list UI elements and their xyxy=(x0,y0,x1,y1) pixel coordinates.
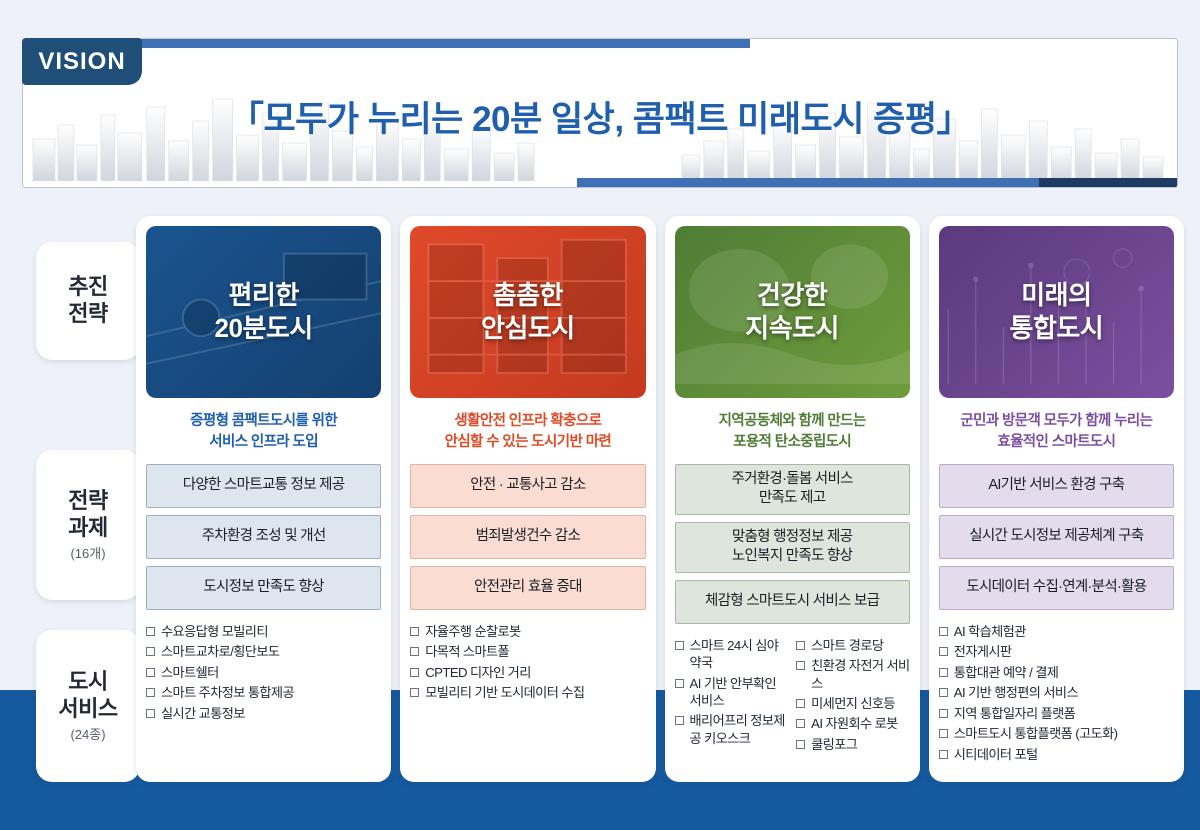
banner-bottom-accent-bar-dark xyxy=(1039,178,1177,187)
task-item[interactable]: 체감형 스마트도시 서비스 보급 xyxy=(675,580,910,624)
task-list: 다양한 스마트교통 정보 제공주차환경 조성 및 개선도시정보 만족도 향상 xyxy=(146,464,381,610)
card-subtitle: 생활안전 인프라 확충으로안심할 수 있는 도시기반 마련 xyxy=(412,411,643,453)
task-item-label: 체감형 스마트도시 서비스 보급 xyxy=(705,592,879,611)
task-item[interactable]: 안전관리 효율 증대 xyxy=(410,566,645,610)
checkbox-icon xyxy=(796,661,805,670)
task-item-label: 도시정보 만족도 향상 xyxy=(203,578,323,597)
card-hero: 미래의통합도시 xyxy=(939,226,1174,398)
strategy-card[interactable]: 편리한20분도시증평형 콤팩트도시를 위한서비스 인프라 도입다양한 스마트교통… xyxy=(136,216,391,782)
service-item-label: 전자게시판 xyxy=(954,643,1012,660)
card-hero: 촘촘한안심도시 xyxy=(410,226,645,398)
task-item-label: 주차환경 조성 및 개선 xyxy=(202,527,326,546)
card-hero-title: 편리한20분도시 xyxy=(215,279,313,346)
task-item[interactable]: 주거환경·돌봄 서비스만족도 제고 xyxy=(675,464,910,515)
checkbox-icon xyxy=(146,709,155,718)
rail-label-tasks: 전략과제(16개) xyxy=(36,450,140,600)
service-item-label: AI 자원회수 로봇 xyxy=(811,715,898,732)
service-list: 스마트 24시 심야약국AI 기반 안부확인 서비스배리어프리 정보제공 키오스… xyxy=(675,637,910,754)
card-hero-title: 건강한지속도시 xyxy=(745,279,839,346)
service-item[interactable]: 스마트 주차정보 통합제공 xyxy=(146,684,381,701)
vision-tab: VISION xyxy=(22,38,142,85)
task-item[interactable]: AI기반 서비스 환경 구축 xyxy=(939,464,1174,508)
task-item-label: AI기반 서비스 환경 구축 xyxy=(988,476,1124,495)
task-item-label: 다양한 스마트교통 정보 제공 xyxy=(183,476,345,495)
service-item[interactable]: 자율주행 순찰로봇 xyxy=(410,623,645,640)
service-column-left: 스마트 24시 심야약국AI 기반 안부확인 서비스배리어프리 정보제공 키오스… xyxy=(675,637,789,754)
checkbox-icon xyxy=(796,699,805,708)
checkbox-icon xyxy=(939,668,948,677)
service-item-label: 실시간 교통정보 xyxy=(161,705,245,722)
service-item-label: 배리어프리 정보제공 키오스크 xyxy=(690,712,789,747)
rail-label-main: 전략과제 xyxy=(68,488,107,542)
card-hero: 건강한지속도시 xyxy=(675,226,910,398)
service-item[interactable]: AI 기반 안부확인 서비스 xyxy=(675,675,789,710)
service-item[interactable]: 실시간 교통정보 xyxy=(146,705,381,722)
strategy-card[interactable]: 촘촘한안심도시생활안전 인프라 확충으로안심할 수 있는 도시기반 마련안전 ·… xyxy=(400,216,655,782)
service-item-label: AI 기반 행정편의 서비스 xyxy=(954,684,1078,701)
service-item[interactable]: 친환경 자전거 서비스 xyxy=(796,657,910,692)
service-item-label: 자율주행 순찰로봇 xyxy=(425,623,520,640)
service-item-label: 미세먼지 신호등 xyxy=(811,695,895,712)
task-item-label: 주거환경·돌봄 서비스만족도 제고 xyxy=(732,470,853,509)
strategy-card[interactable]: 건강한지속도시지역공동체와 함께 만드는포용적 탄소중립도시주거환경·돌봄 서비… xyxy=(665,216,920,782)
rail-label-services: 도시서비스(24종) xyxy=(36,630,140,782)
service-item[interactable]: 스마트쉘터 xyxy=(146,664,381,681)
checkbox-icon xyxy=(146,668,155,677)
task-list: 안전 · 교통사고 감소범죄발생건수 감소안전관리 효율 증대 xyxy=(410,464,645,610)
vision-tab-label: VISION xyxy=(38,48,125,76)
task-item[interactable]: 다양한 스마트교통 정보 제공 xyxy=(146,464,381,508)
checkbox-icon xyxy=(146,688,155,697)
checkbox-icon xyxy=(939,688,948,697)
checkbox-icon xyxy=(675,679,684,688)
service-item[interactable]: 배리어프리 정보제공 키오스크 xyxy=(675,712,789,747)
service-item-label: 스마트 경로당 xyxy=(811,637,883,654)
checkbox-icon xyxy=(675,716,684,725)
checkbox-icon xyxy=(410,627,419,636)
task-item[interactable]: 도시데이터 수집·연계·분석·활용 xyxy=(939,566,1174,610)
strategy-card-row: 편리한20분도시증평형 콤팩트도시를 위한서비스 인프라 도입다양한 스마트교통… xyxy=(136,216,1184,782)
service-item[interactable]: 지역 통합일자리 플랫폼 xyxy=(939,705,1174,722)
service-item[interactable]: 시티데이터 포털 xyxy=(939,746,1174,763)
checkbox-icon xyxy=(939,750,948,759)
checkbox-icon xyxy=(939,647,948,656)
checkbox-icon xyxy=(796,740,805,749)
service-item-label: 스마트 24시 심야약국 xyxy=(690,637,789,672)
task-item-label: 도시데이터 수집·연계·분석·활용 xyxy=(966,578,1146,597)
service-item-label: CPTED 디자인 거리 xyxy=(425,664,531,681)
task-item-label: 안전 · 교통사고 감소 xyxy=(470,476,585,495)
service-item-label: 지역 통합일자리 플랫폼 xyxy=(954,705,1075,722)
task-list: AI기반 서비스 환경 구축실시간 도시정보 제공체계 구축도시데이터 수집·연… xyxy=(939,464,1174,610)
service-item-label: 스마트 주차정보 통합제공 xyxy=(161,684,294,701)
service-item-label: 시티데이터 포털 xyxy=(954,746,1038,763)
service-list: AI 학습체험관전자게시판통합대관 예약 / 결제AI 기반 행정편의 서비스지… xyxy=(939,623,1174,763)
service-column-left: 자율주행 순찰로봇다목적 스마트폴CPTED 디자인 거리모빌리티 기반 도시데… xyxy=(410,623,645,702)
service-item-label: 친환경 자전거 서비스 xyxy=(811,657,910,692)
card-hero-title: 미래의통합도시 xyxy=(1010,279,1104,346)
service-item[interactable]: 스마트 24시 심야약국 xyxy=(675,637,789,672)
service-item-label: 통합대관 예약 / 결제 xyxy=(954,664,1059,681)
card-subtitle: 증평형 콤팩트도시를 위한서비스 인프라 도입 xyxy=(148,411,379,453)
card-hero: 편리한20분도시 xyxy=(146,226,381,398)
service-list: 자율주행 순찰로봇다목적 스마트폴CPTED 디자인 거리모빌리티 기반 도시데… xyxy=(410,623,645,702)
service-item[interactable]: AI 자원회수 로봇 xyxy=(796,715,910,732)
service-item[interactable]: 모빌리티 기반 도시데이터 수집 xyxy=(410,684,645,701)
service-item-label: 스마트도시 통합플랫폼 (고도화) xyxy=(954,725,1118,742)
task-list: 주거환경·돌봄 서비스만족도 제고맞춤형 행정정보 제공노인복지 만족도 향상체… xyxy=(675,464,910,624)
service-item[interactable]: 다목적 스마트폴 xyxy=(410,643,645,660)
service-item-label: 수요응답형 모빌리티 xyxy=(161,623,268,640)
vision-banner: 「모두가 누리는 20분 일상, 콤팩트 미래도시 증평」 xyxy=(22,38,1178,188)
card-subtitle: 군민과 방문객 모두가 함께 누리는효율적인 스마트도시 xyxy=(941,411,1172,453)
strategy-card[interactable]: 미래의통합도시군민과 방문객 모두가 함께 누리는효율적인 스마트도시AI기반 … xyxy=(929,216,1184,782)
task-item[interactable]: 실시간 도시정보 제공체계 구축 xyxy=(939,515,1174,559)
rail-label-main: 추진전략 xyxy=(68,274,107,328)
task-item-label: 안전관리 효율 증대 xyxy=(474,578,582,597)
task-item[interactable]: 맞춤형 행정정보 제공노인복지 만족도 향상 xyxy=(675,522,910,573)
card-subtitle: 지역공동체와 함께 만드는포용적 탄소중립도시 xyxy=(677,411,908,453)
checkbox-icon xyxy=(146,647,155,656)
service-item[interactable]: 스마트교차로/횡단보도 xyxy=(146,643,381,660)
service-item[interactable]: AI 학습체험관 xyxy=(939,623,1174,640)
service-item[interactable]: CPTED 디자인 거리 xyxy=(410,664,645,681)
checkbox-icon xyxy=(796,641,805,650)
checkbox-icon xyxy=(410,647,419,656)
service-item[interactable]: 스마트 경로당 xyxy=(796,637,910,654)
task-item[interactable]: 안전 · 교통사고 감소 xyxy=(410,464,645,508)
checkbox-icon xyxy=(410,668,419,677)
service-item[interactable]: 전자게시판 xyxy=(939,643,1174,660)
checkbox-icon xyxy=(939,729,948,738)
service-item[interactable]: 수요응답형 모빌리티 xyxy=(146,623,381,640)
service-item[interactable]: 통합대관 예약 / 결제 xyxy=(939,664,1174,681)
service-item-label: 쿨링포그 xyxy=(811,736,857,753)
service-list: 수요응답형 모빌리티스마트교차로/횡단보도스마트쉘터스마트 주차정보 통합제공실… xyxy=(146,623,381,722)
service-column-left: 수요응답형 모빌리티스마트교차로/횡단보도스마트쉘터스마트 주차정보 통합제공실… xyxy=(146,623,381,722)
task-item[interactable]: 도시정보 만족도 향상 xyxy=(146,566,381,610)
service-item[interactable]: 스마트도시 통합플랫폼 (고도화) xyxy=(939,725,1174,742)
checkbox-icon xyxy=(939,709,948,718)
task-item[interactable]: 주차환경 조성 및 개선 xyxy=(146,515,381,559)
checkbox-icon xyxy=(410,688,419,697)
checkbox-icon xyxy=(939,627,948,636)
checkbox-icon xyxy=(146,627,155,636)
service-item[interactable]: AI 기반 행정편의 서비스 xyxy=(939,684,1174,701)
service-item-label: 스마트쉘터 xyxy=(161,664,219,681)
service-column-right: 스마트 경로당친환경 자전거 서비스미세먼지 신호등AI 자원회수 로봇쿨링포그 xyxy=(796,637,910,754)
task-item-label: 맞춤형 행정정보 제공노인복지 만족도 향상 xyxy=(732,528,852,567)
rail-label-count: (16개) xyxy=(70,543,105,562)
page-title: 「모두가 누리는 20분 일상, 콤팩트 미래도시 증평」 xyxy=(23,91,1177,142)
checkbox-icon xyxy=(796,719,805,728)
task-item-label: 실시간 도시정보 제공체계 구축 xyxy=(969,527,1143,546)
task-item[interactable]: 범죄발생건수 감소 xyxy=(410,515,645,559)
service-item[interactable]: 쿨링포그 xyxy=(796,736,910,753)
rail-label-main: 도시서비스 xyxy=(58,669,117,723)
task-item-label: 범죄발생건수 감소 xyxy=(476,527,580,546)
service-item-label: AI 기반 안부확인 서비스 xyxy=(690,675,789,710)
card-hero-title: 촘촘한안심도시 xyxy=(481,279,575,346)
rail-label-count: (24종) xyxy=(70,724,105,743)
service-item-label: 다목적 스마트폴 xyxy=(425,643,509,660)
service-item-label: 모빌리티 기반 도시데이터 수집 xyxy=(425,684,584,701)
rail-label-strategy: 추진전략 xyxy=(36,242,140,360)
checkbox-icon xyxy=(675,641,684,650)
service-item-label: AI 학습체험관 xyxy=(954,623,1026,640)
service-item[interactable]: 미세먼지 신호등 xyxy=(796,695,910,712)
service-column-left: AI 학습체험관전자게시판통합대관 예약 / 결제AI 기반 행정편의 서비스지… xyxy=(939,623,1174,763)
service-item-label: 스마트교차로/횡단보도 xyxy=(161,643,279,660)
